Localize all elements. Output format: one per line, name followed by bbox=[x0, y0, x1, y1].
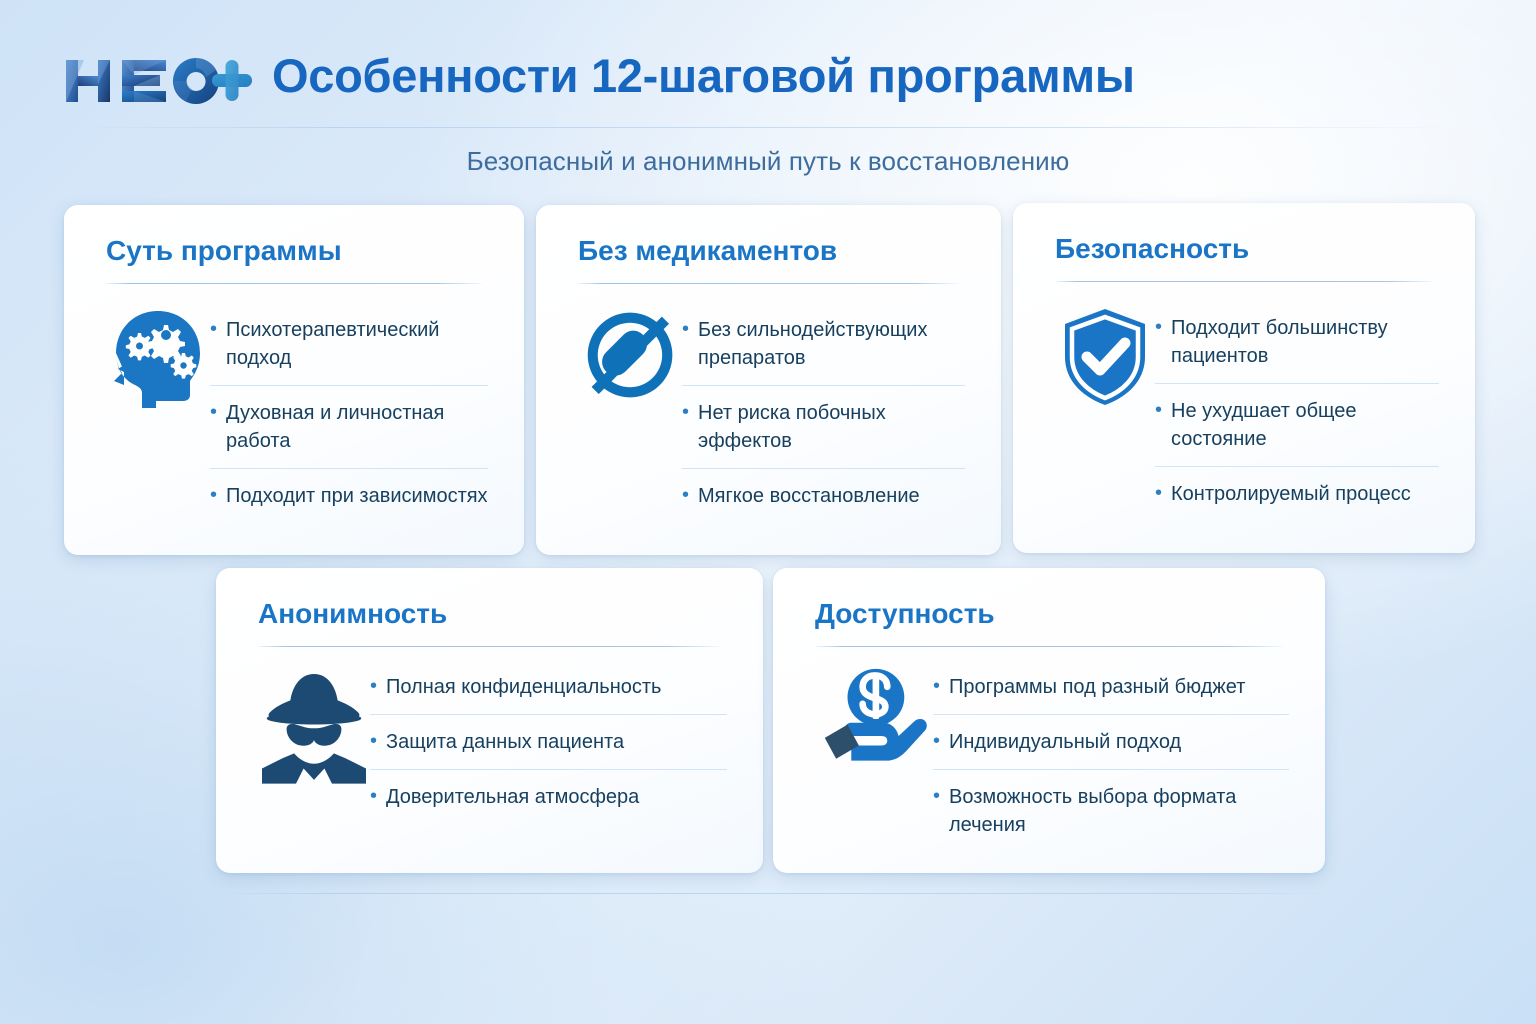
neo-plus-logo bbox=[64, 54, 254, 108]
list-item: • Доверительная атмосфера bbox=[370, 770, 727, 824]
list-item: • Защита данных пациента bbox=[370, 715, 727, 770]
list-item: • Полная конфиденциальность bbox=[370, 660, 727, 715]
list-item: • Индивидуальный подход bbox=[933, 715, 1289, 770]
card-body: • Без сильнодействующих препаратов • Нет… bbox=[578, 303, 965, 533]
spy-incognito-icon bbox=[258, 660, 370, 784]
bullet-list: • Полная конфиденциальность • Защита дан… bbox=[370, 660, 727, 824]
list-item: • Подходит большинству пациентов bbox=[1155, 301, 1439, 384]
bullet-dot-icon: • bbox=[1155, 397, 1171, 423]
list-item: • Возможность выбора формата лечения bbox=[933, 770, 1289, 852]
no-pills-icon bbox=[578, 303, 682, 401]
page-header: Особенности 12-шаговой программы bbox=[0, 0, 1536, 128]
card-anonymity: Анонимность • Полная конфиденциальность … bbox=[216, 568, 763, 873]
card-title-rule bbox=[1055, 281, 1433, 282]
head-with-gears-icon bbox=[106, 303, 210, 409]
card-title-rule bbox=[578, 283, 959, 284]
page-subtitle: Безопасный и анонимный путь к восстановл… bbox=[0, 146, 1536, 177]
card-title: Безопасность bbox=[1055, 233, 1249, 265]
list-item: • Психотерапевтический подход bbox=[210, 303, 488, 386]
list-item: • Контролируемый процесс bbox=[1155, 467, 1439, 521]
page-title: Особенности 12-шаговой программы bbox=[272, 48, 1135, 103]
header-divider bbox=[80, 127, 1460, 128]
bullet-dot-icon: • bbox=[210, 399, 226, 425]
card-nomeds: Без медикаментов • Без сильнодействующих… bbox=[536, 205, 1001, 555]
list-item: • Не ухудшает общее состояние bbox=[1155, 384, 1439, 467]
card-title: Без медикаментов bbox=[578, 235, 837, 267]
card-safety: Безопасность • Подходит большинству паци… bbox=[1013, 203, 1475, 553]
bullet-dot-icon: • bbox=[210, 316, 226, 342]
bullet-dot-icon: • bbox=[682, 316, 698, 342]
bullet-list: • Программы под разный бюджет • Индивиду… bbox=[933, 660, 1289, 852]
list-item: • Без сильнодействующих препаратов bbox=[682, 303, 965, 386]
card-body: • Программы под разный бюджет • Индивиду… bbox=[815, 660, 1289, 851]
list-item: • Мягкое восстановление bbox=[682, 469, 965, 523]
footer-divider bbox=[216, 893, 1328, 894]
bullet-dot-icon: • bbox=[682, 482, 698, 508]
bullet-list: • Подходит большинству пациентов • Не ух… bbox=[1155, 301, 1439, 521]
bullet-dot-icon: • bbox=[933, 673, 949, 699]
bullet-dot-icon: • bbox=[370, 783, 386, 809]
bullet-dot-icon: • bbox=[370, 673, 386, 699]
bullet-dot-icon: • bbox=[933, 728, 949, 754]
list-item: • Нет риска побочных эффектов bbox=[682, 386, 965, 469]
bullet-dot-icon: • bbox=[1155, 314, 1171, 340]
card-title: Доступность bbox=[815, 598, 995, 630]
bullet-list: • Без сильнодействующих препаратов • Нет… bbox=[682, 303, 965, 523]
card-body: • Полная конфиденциальность • Защита дан… bbox=[258, 660, 727, 851]
list-item: • Подходит при зависимостях bbox=[210, 469, 488, 523]
card-body: • Психотерапевтический подход • Духовная… bbox=[106, 303, 488, 533]
bullet-dot-icon: • bbox=[1155, 480, 1171, 506]
list-item: • Духовная и личностная работа bbox=[210, 386, 488, 469]
card-access: Доступность • Программы под разный бюдже… bbox=[773, 568, 1325, 873]
bullet-dot-icon: • bbox=[933, 783, 949, 809]
shield-check-icon bbox=[1055, 301, 1155, 407]
card-body: • Подходит большинству пациентов • Не ух… bbox=[1055, 301, 1439, 531]
bullet-dot-icon: • bbox=[370, 728, 386, 754]
card-title: Суть программы bbox=[106, 235, 342, 267]
hand-with-coin-icon bbox=[815, 660, 933, 772]
card-title-rule bbox=[106, 283, 482, 284]
bullet-dot-icon: • bbox=[210, 482, 226, 508]
card-title: Анонимность bbox=[258, 598, 447, 630]
bullet-list: • Психотерапевтический подход • Духовная… bbox=[210, 303, 488, 523]
card-title-rule bbox=[815, 646, 1283, 647]
card-essence: Суть программы • Психотерапевтический по bbox=[64, 205, 524, 555]
card-title-rule bbox=[258, 646, 721, 647]
bullet-dot-icon: • bbox=[682, 399, 698, 425]
list-item: • Программы под разный бюджет bbox=[933, 660, 1289, 715]
